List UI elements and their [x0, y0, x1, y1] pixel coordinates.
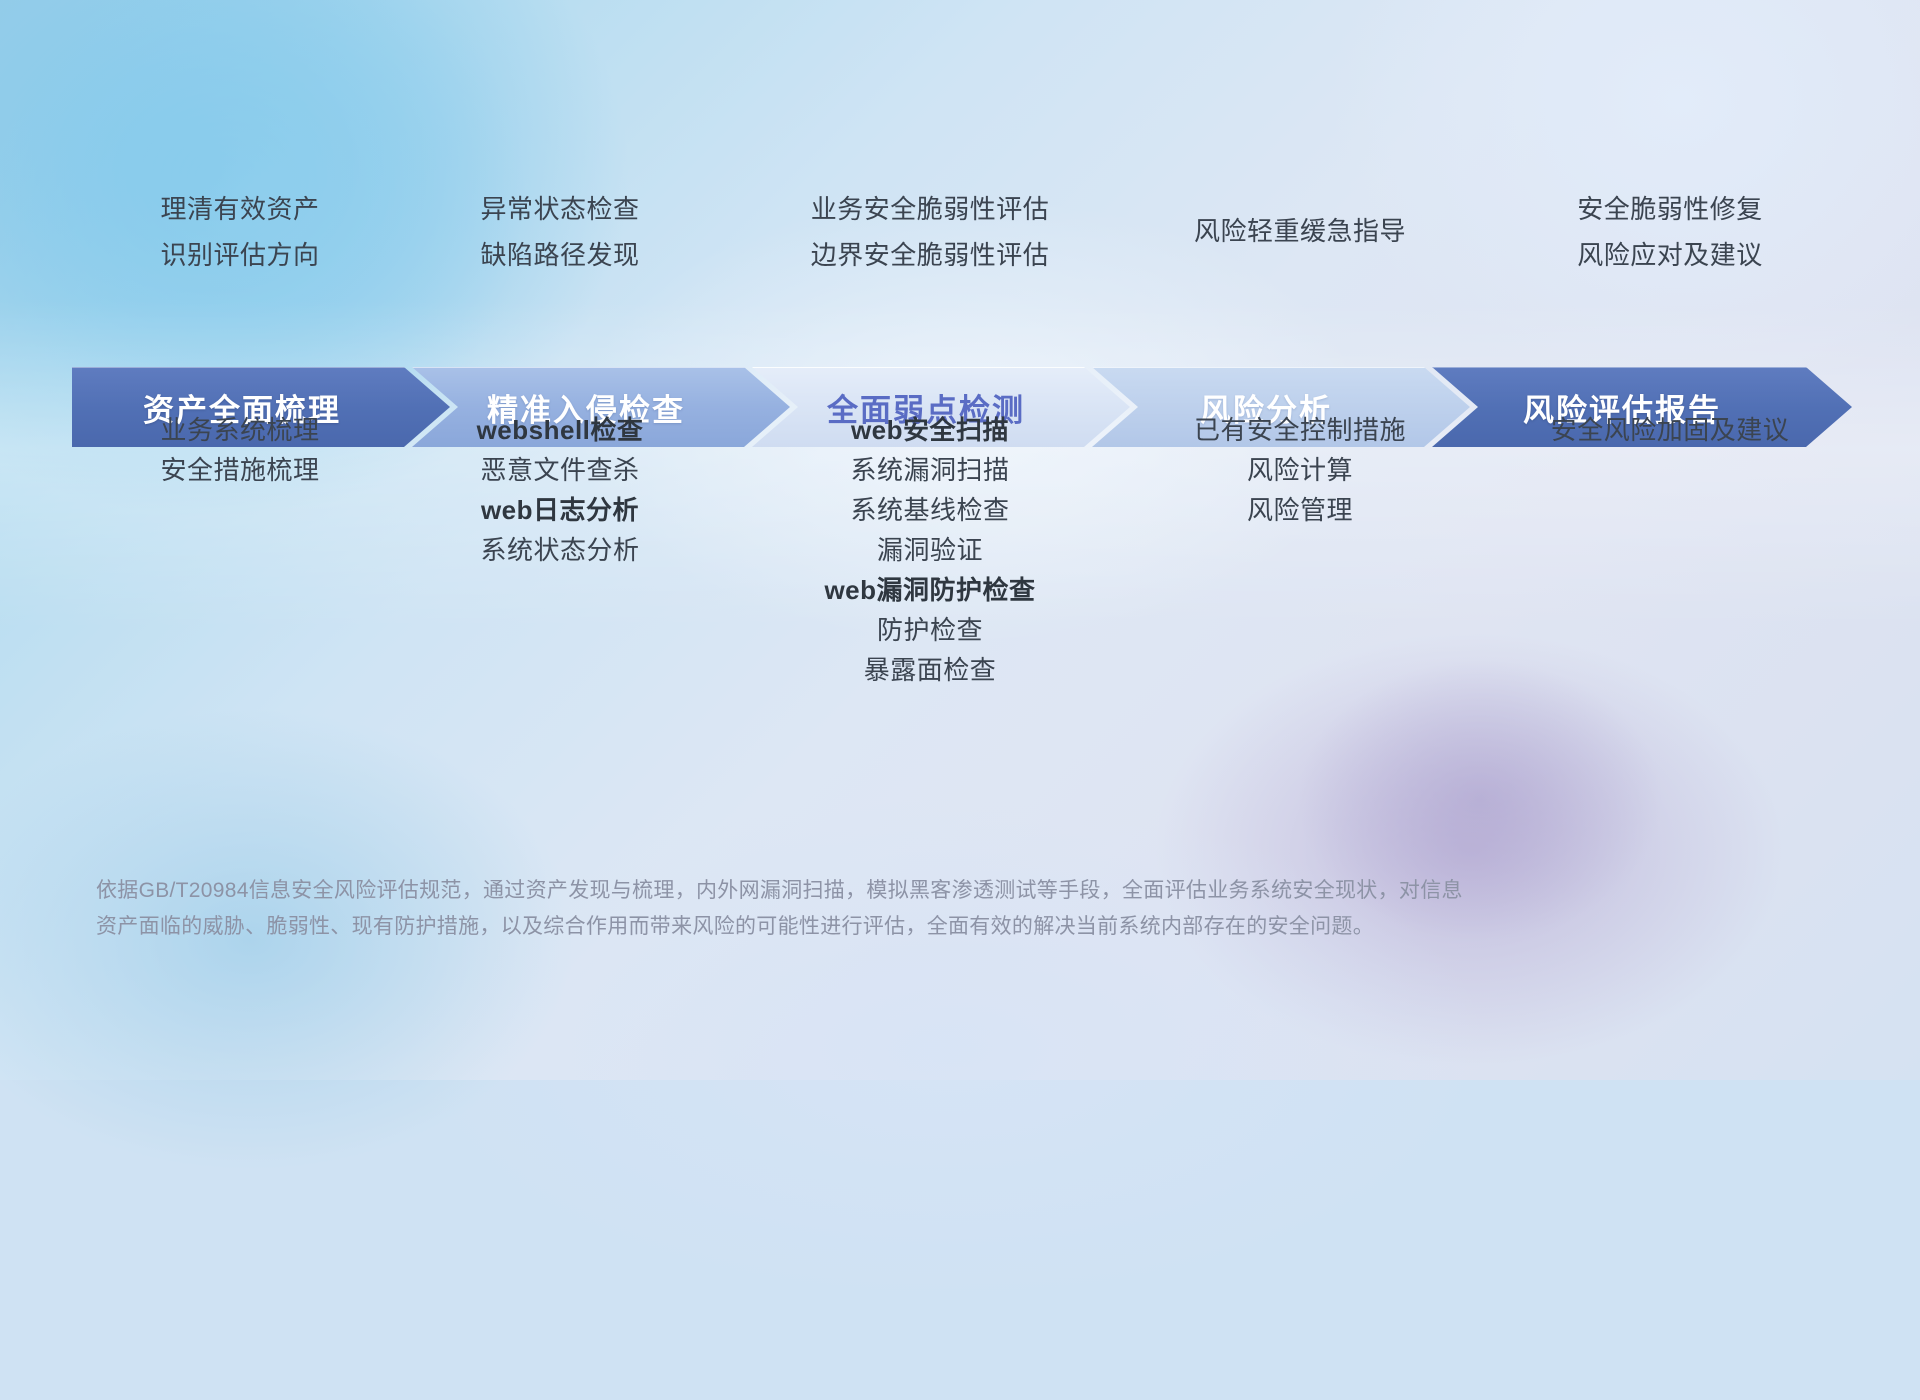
input-item: 异常状态检查	[365, 186, 755, 232]
input-item: 安全脆弱性修复	[1440, 186, 1900, 232]
activity-item: webshell检查	[365, 410, 755, 450]
activity-item: 风险计算	[1070, 450, 1530, 490]
activity-item: 防护检查	[700, 610, 1160, 650]
activity-item: web日志分析	[365, 490, 755, 530]
activity-item: 暴露面检查	[700, 650, 1160, 690]
footer-line: 依据GB/T20984信息安全风险评估规范，通过资产发现与梳理，内外网漏洞扫描，…	[96, 873, 1616, 909]
activity-item: 恶意文件查杀	[365, 450, 755, 490]
footer-description: 依据GB/T20984信息安全风险评估规范，通过资产发现与梳理，内外网漏洞扫描，…	[96, 873, 1616, 945]
input-item: 缺陷路径发现	[365, 232, 755, 278]
stage-activities-intrusion-check: webshell检查 恶意文件查杀 web日志分析 系统状态分析	[365, 410, 755, 570]
activity-item: 系统状态分析	[365, 530, 755, 570]
activity-item: web漏洞防护检查	[700, 570, 1160, 610]
stage-activities-risk-report: 安全风险加固及建议	[1440, 410, 1900, 450]
activity-item: 安全风险加固及建议	[1440, 410, 1900, 450]
process-diagram: 理清有效资产 识别评估方向 异常状态检查 缺陷路径发现 业务安全脆弱性评估 边界…	[0, 0, 1920, 1080]
activity-item: 风险管理	[1070, 490, 1530, 530]
input-item: 风险应对及建议	[1440, 232, 1900, 278]
footer-line: 资产面临的威胁、脆弱性、现有防护措施，以及综合作用而带来风险的可能性进行评估，全…	[96, 909, 1616, 945]
stage-inputs-intrusion-check: 异常状态检查 缺陷路径发现	[365, 186, 755, 278]
stage-inputs-risk-report: 安全脆弱性修复 风险应对及建议	[1440, 186, 1900, 278]
activity-item: 漏洞验证	[700, 530, 1160, 570]
